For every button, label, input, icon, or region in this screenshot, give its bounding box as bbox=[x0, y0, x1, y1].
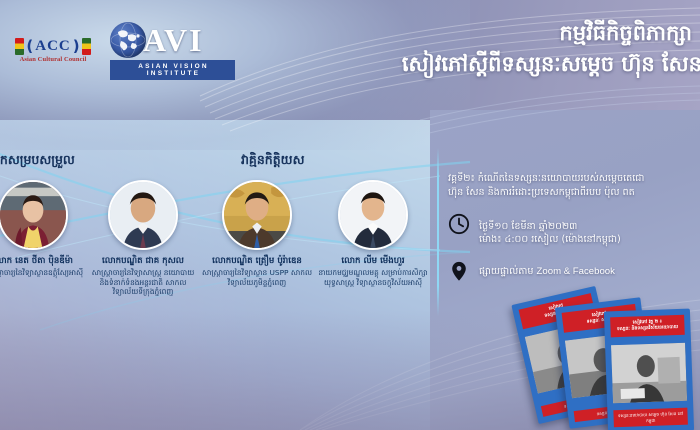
bracket-icon: ( bbox=[26, 39, 33, 54]
speaker-card: លោក លីម មេីងហួរ នាយកមជ្ឈមណ្ឌលមគ្គុ សម្រា… bbox=[318, 180, 428, 287]
speaker-name: លោកបណ្ឌិត ត្រឿម ប៉ូរ៉ាឌេន bbox=[202, 256, 312, 267]
title-line-2: សៀវភៅស្តីពីទស្សនៈសម្តេច ហ៊ុន សែន bbox=[252, 48, 700, 80]
vertical-divider bbox=[437, 148, 439, 316]
event-poster: ( ACC ) Asian Cultural Council bbox=[0, 0, 700, 430]
location-platforms: Zoom & Facebook bbox=[537, 266, 615, 277]
acc-abbr: ACC bbox=[35, 38, 71, 55]
clock-icon bbox=[448, 213, 470, 235]
book-subtitle: ទស្សនៈនយោបាយ សម្តេច ហ៊ុន សែន នៅកម្ពុជា bbox=[616, 411, 684, 424]
speaker-card: លោកបណ្ឌិត ត្រឿម ប៉ូរ៉ាឌេន សាស្ត្រាចារ្យន… bbox=[202, 180, 312, 287]
location-row: ផ្សាយផ្ទាល់តាម Zoom & Facebook bbox=[448, 260, 698, 282]
avatar bbox=[222, 180, 292, 250]
avi-logo-row: AVI bbox=[110, 22, 235, 58]
book-footer-band: ទស្សនៈនយោបាយ សម្តេច ហ៊ុន សែន នៅកម្ពុជា bbox=[613, 408, 688, 427]
map-pin-icon bbox=[448, 260, 470, 282]
book-title-band: សៀវភៅ វគ្គ ២ ៖ ទស្សនៈ និងទស្សនវិស័យនយោបា… bbox=[610, 315, 685, 338]
datetime-row: ថ្ងៃទី១០ ខែមីនា ឆ្នាំ២០២៣ ម៉ោង៖ ៤:០០ រសៀ… bbox=[448, 213, 698, 246]
speaker-list: លោក នេត ថីតា ប៉ិនឌីម៉ា សាស្ត្រាចារ្យនៃវិ… bbox=[0, 180, 440, 330]
bracket-icon: ) bbox=[73, 39, 80, 54]
session-description: វគ្គទី២៖ កំណើតនៃទស្សនៈនយោបាយរបស់សម្តេចតេ… bbox=[448, 172, 698, 200]
moderator-heading: អ្នកសម្របសម្រួល bbox=[0, 152, 75, 171]
event-time: ម៉ោង៖ ៤:០០ រសៀល (ម៉ោងនៅកម្ពុជា) bbox=[479, 233, 621, 246]
speaker-card: លោក នេត ថីតា ប៉ិនឌីម៉ា សាស្ត្រាចារ្យនៃវិ… bbox=[0, 180, 88, 278]
speaker-name: លោក នេត ថីតា ប៉ិនឌីម៉ា bbox=[0, 256, 88, 267]
speaker-name: លោកបណ្ឌិត ជាគ កុសល bbox=[88, 256, 198, 267]
book-stack: សៀវភៅ ទស្សនៈ សម្តេច ទស្សនៈនយោបាយ សៀវភៅ ទ… bbox=[496, 288, 700, 430]
globe-icon bbox=[110, 22, 146, 58]
flag-icon bbox=[15, 38, 24, 55]
avatar bbox=[338, 180, 408, 250]
avi-banner: ASIAN VISION INSTITUTE bbox=[110, 60, 235, 80]
speaker-role: សាស្ត្រាចារ្យនៃវិទ្យាសាស្ត្រ នយោបាយ និងទ… bbox=[88, 268, 198, 297]
speaker-name: លោក លីម មេីងហួរ bbox=[318, 256, 428, 267]
speaker-role: នាយកមជ្ឈមណ្ឌលមគ្គុ សម្រាប់ការសិក្សាយុទ្ធ… bbox=[318, 268, 428, 287]
event-details: វគ្គទី២៖ កំណើតនៃទស្សនៈនយោបាយរបស់សម្តេចតេ… bbox=[448, 172, 698, 282]
avatar bbox=[0, 180, 68, 250]
logo-acc: ( ACC ) Asian Cultural Council bbox=[14, 38, 92, 63]
avi-letters: AVI bbox=[143, 24, 204, 56]
location-prefix: ផ្សាយផ្ទាល់តាម bbox=[479, 266, 537, 277]
flag-icon bbox=[82, 38, 91, 55]
speaker-card: លោកបណ្ឌិត ជាគ កុសល សាស្ត្រាចារ្យនៃវិទ្យា… bbox=[88, 180, 198, 297]
title-line-1: កម្មវិធីកិច្ចពិភាក្សា bbox=[252, 18, 692, 48]
avatar bbox=[108, 180, 178, 250]
logo-avi: AVI ASIAN VISION INSTITUTE bbox=[110, 22, 235, 80]
acc-full-name: Asian Cultural Council bbox=[14, 56, 92, 63]
speaker-role: សាស្ត្រាចារ្យនៃវិទ្យាស្ថានឧត្តុំសែ្យអាស៊… bbox=[0, 268, 88, 278]
book-photo bbox=[611, 343, 687, 404]
speaker-role: សាស្ត្រាចារ្យនៃវិទ្យាស្ថាន USPP សាកលវិទ្… bbox=[202, 268, 312, 287]
datetime-text: ថ្ងៃទី១០ ខែមីនា ឆ្នាំ២០២៣ ម៉ោង៖ ៤:០០ រសៀ… bbox=[479, 213, 621, 246]
speakers-heading: វាគ្មិនកិត្តិយស bbox=[241, 152, 304, 171]
poster-title: កម្មវិធីកិច្ចពិភាក្សា សៀវភៅស្តីពីទស្សនៈស… bbox=[252, 18, 692, 80]
book-cover: សៀវភៅ វគ្គ ២ ៖ ទស្សនៈ និងទស្សនវិស័យនយោបា… bbox=[604, 309, 694, 430]
location-text: ផ្សាយផ្ទាល់តាម Zoom & Facebook bbox=[479, 265, 615, 278]
event-date: ថ្ងៃទី១០ ខែមីនា ឆ្នាំ២០២៣ bbox=[479, 221, 577, 232]
acc-logo-row: ( ACC ) bbox=[14, 38, 92, 55]
book-title: សៀវភៅ វគ្គ ២ ៖ ទស្សនៈ និងទស្សនវិស័យនយោបា… bbox=[613, 319, 681, 333]
